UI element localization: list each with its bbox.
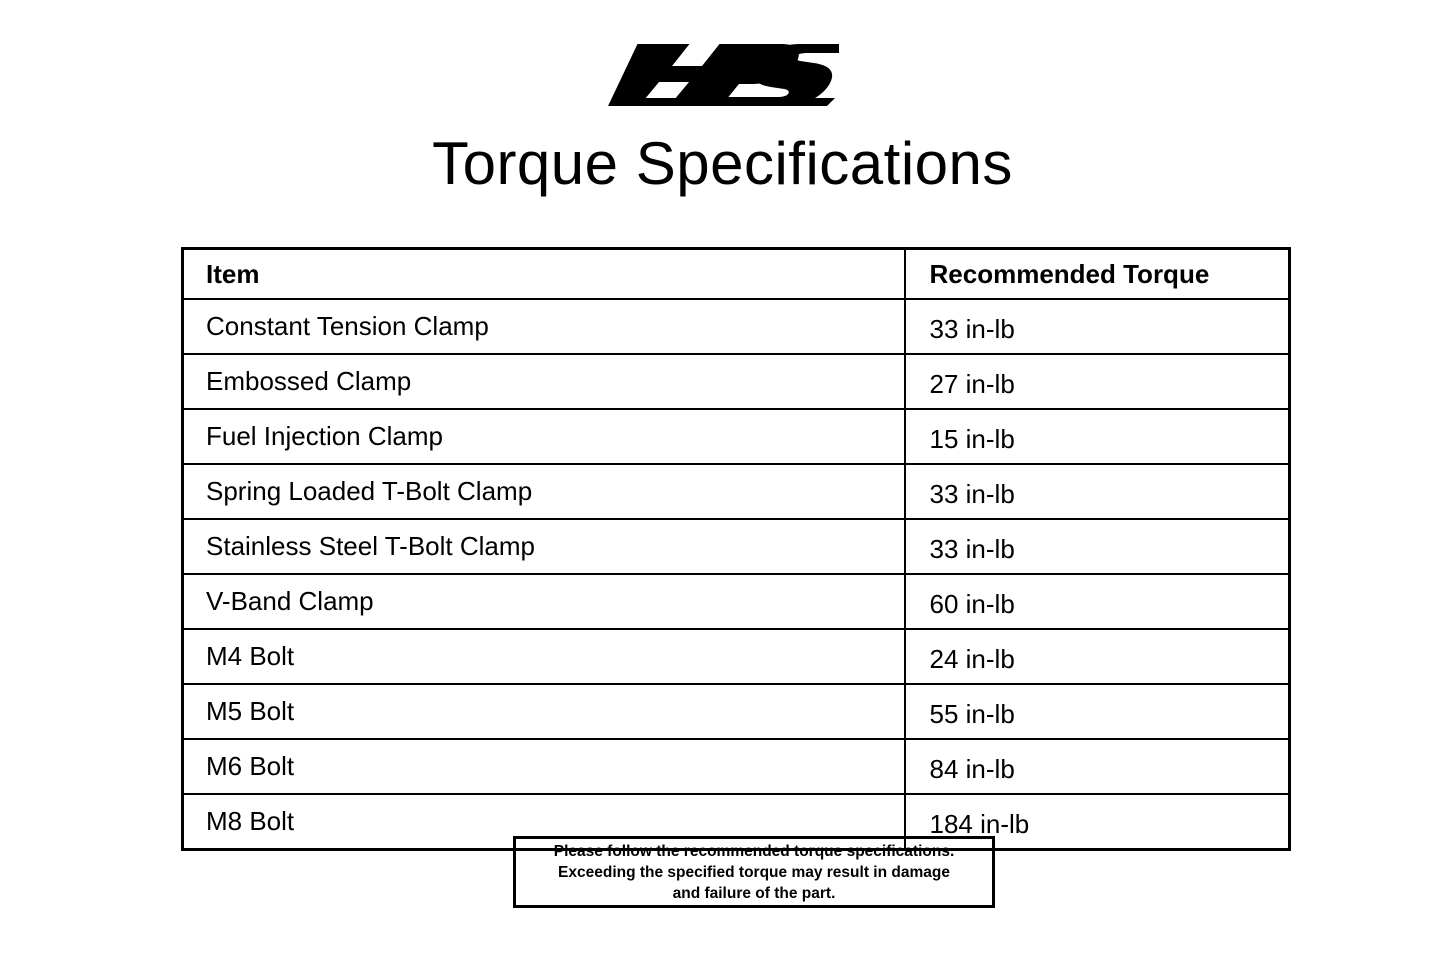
footer-note-line: Please follow the recommended torque spe… <box>554 841 955 862</box>
cell-torque: 84 in-lb <box>905 739 1290 794</box>
cell-item: Embossed Clamp <box>183 354 905 409</box>
hps-logo <box>0 38 1445 110</box>
table-row: Constant Tension Clamp 33 in-lb <box>183 299 1290 354</box>
table-row: Embossed Clamp 27 in-lb <box>183 354 1290 409</box>
cell-torque: 55 in-lb <box>905 684 1290 739</box>
cell-item: V-Band Clamp <box>183 574 905 629</box>
torque-specifications-table: Item Recommended Torque Constant Tension… <box>181 247 1288 851</box>
column-header-recommended-torque: Recommended Torque <box>905 249 1290 300</box>
cell-item: M6 Bolt <box>183 739 905 794</box>
footer-warning-box: Please follow the recommended torque spe… <box>513 836 995 908</box>
footer-note-line: Exceeding the specified torque may resul… <box>558 862 950 883</box>
table-row: Stainless Steel T-Bolt Clamp 33 in-lb <box>183 519 1290 574</box>
table-row: V-Band Clamp 60 in-lb <box>183 574 1290 629</box>
page-title: Torque Specifications <box>0 128 1445 200</box>
table-row: Spring Loaded T-Bolt Clamp 33 in-lb <box>183 464 1290 519</box>
cell-torque: 27 in-lb <box>905 354 1290 409</box>
table-row: M4 Bolt 24 in-lb <box>183 629 1290 684</box>
cell-torque: 33 in-lb <box>905 464 1290 519</box>
cell-torque: 33 in-lb <box>905 299 1290 354</box>
cell-torque: 24 in-lb <box>905 629 1290 684</box>
table-header-row: Item Recommended Torque <box>183 249 1290 300</box>
cell-item: Spring Loaded T-Bolt Clamp <box>183 464 905 519</box>
cell-item: M5 Bolt <box>183 684 905 739</box>
table-row: M6 Bolt 84 in-lb <box>183 739 1290 794</box>
cell-torque: 15 in-lb <box>905 409 1290 464</box>
cell-item: Constant Tension Clamp <box>183 299 905 354</box>
column-header-item: Item <box>183 249 905 300</box>
footer-note-line: and failure of the part. <box>673 883 836 904</box>
cell-item: Fuel Injection Clamp <box>183 409 905 464</box>
table-row: M5 Bolt 55 in-lb <box>183 684 1290 739</box>
cell-torque: 33 in-lb <box>905 519 1290 574</box>
table-row: Fuel Injection Clamp 15 in-lb <box>183 409 1290 464</box>
cell-torque: 60 in-lb <box>905 574 1290 629</box>
cell-item: Stainless Steel T-Bolt Clamp <box>183 519 905 574</box>
cell-item: M4 Bolt <box>183 629 905 684</box>
